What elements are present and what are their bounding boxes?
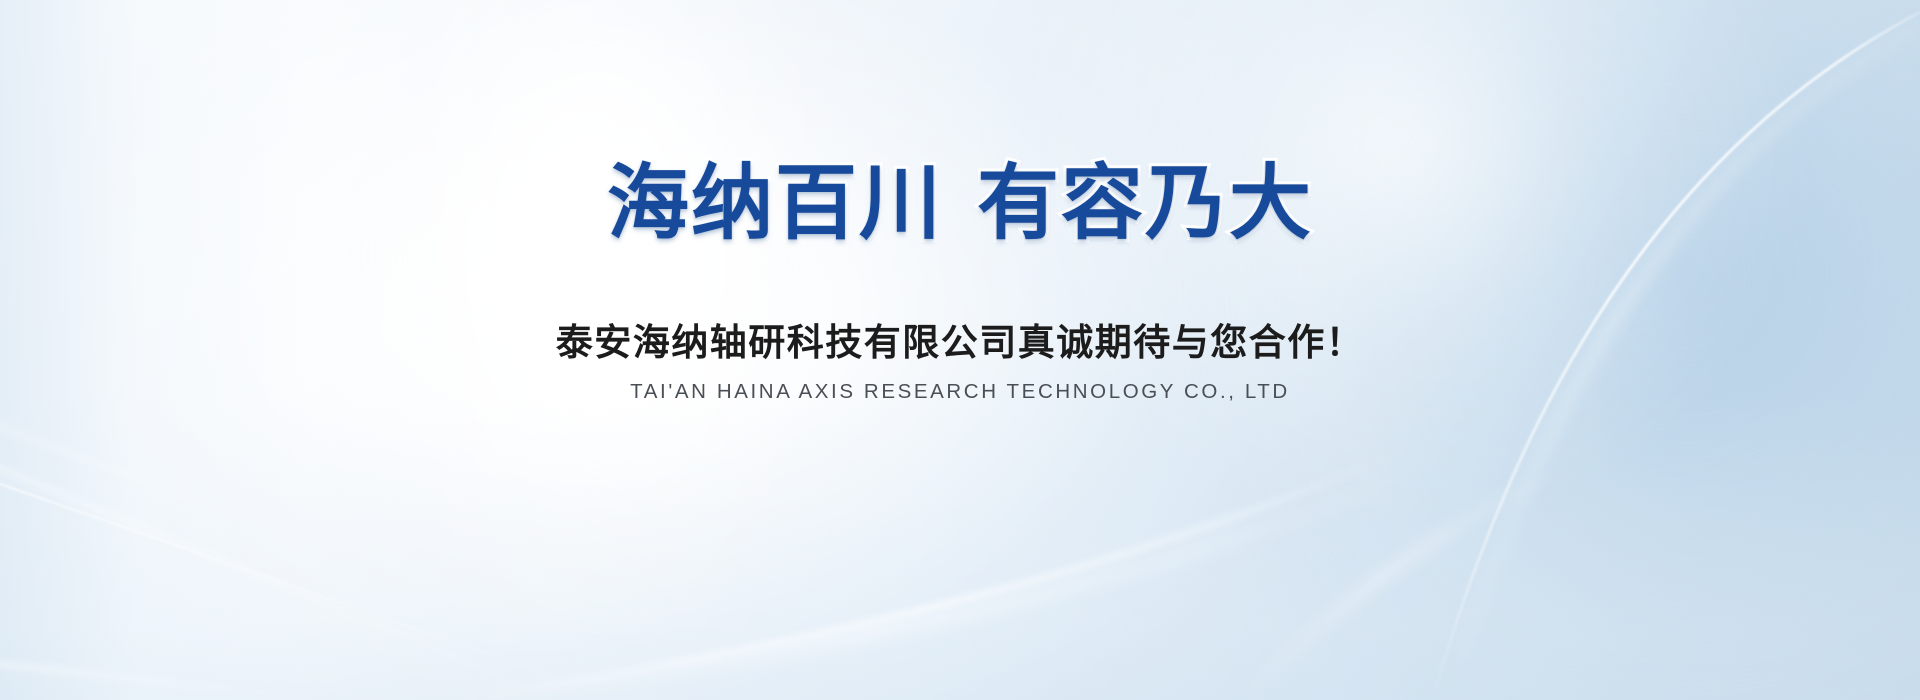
hero-banner: 海纳百川有容乃大 泰安海纳轴研科技有限公司真诚期待与您合作！ TAI'AN HA… <box>0 0 1920 700</box>
banner-subtitle-chinese: 泰安海纳轴研科技有限公司真诚期待与您合作！ <box>556 312 1365 366</box>
headline-phrase-1: 海纳百川 <box>607 158 943 249</box>
banner-headline: 海纳百川有容乃大 <box>607 158 1313 250</box>
banner-subtitle-english: TAI'AN HAINA AXIS RESEARCH TECHNOLOGY CO… <box>630 380 1290 404</box>
banner-content: 海纳百川有容乃大 泰安海纳轴研科技有限公司真诚期待与您合作！ TAI'AN HA… <box>0 0 1920 700</box>
headline-phrase-2: 有容乃大 <box>977 158 1313 249</box>
